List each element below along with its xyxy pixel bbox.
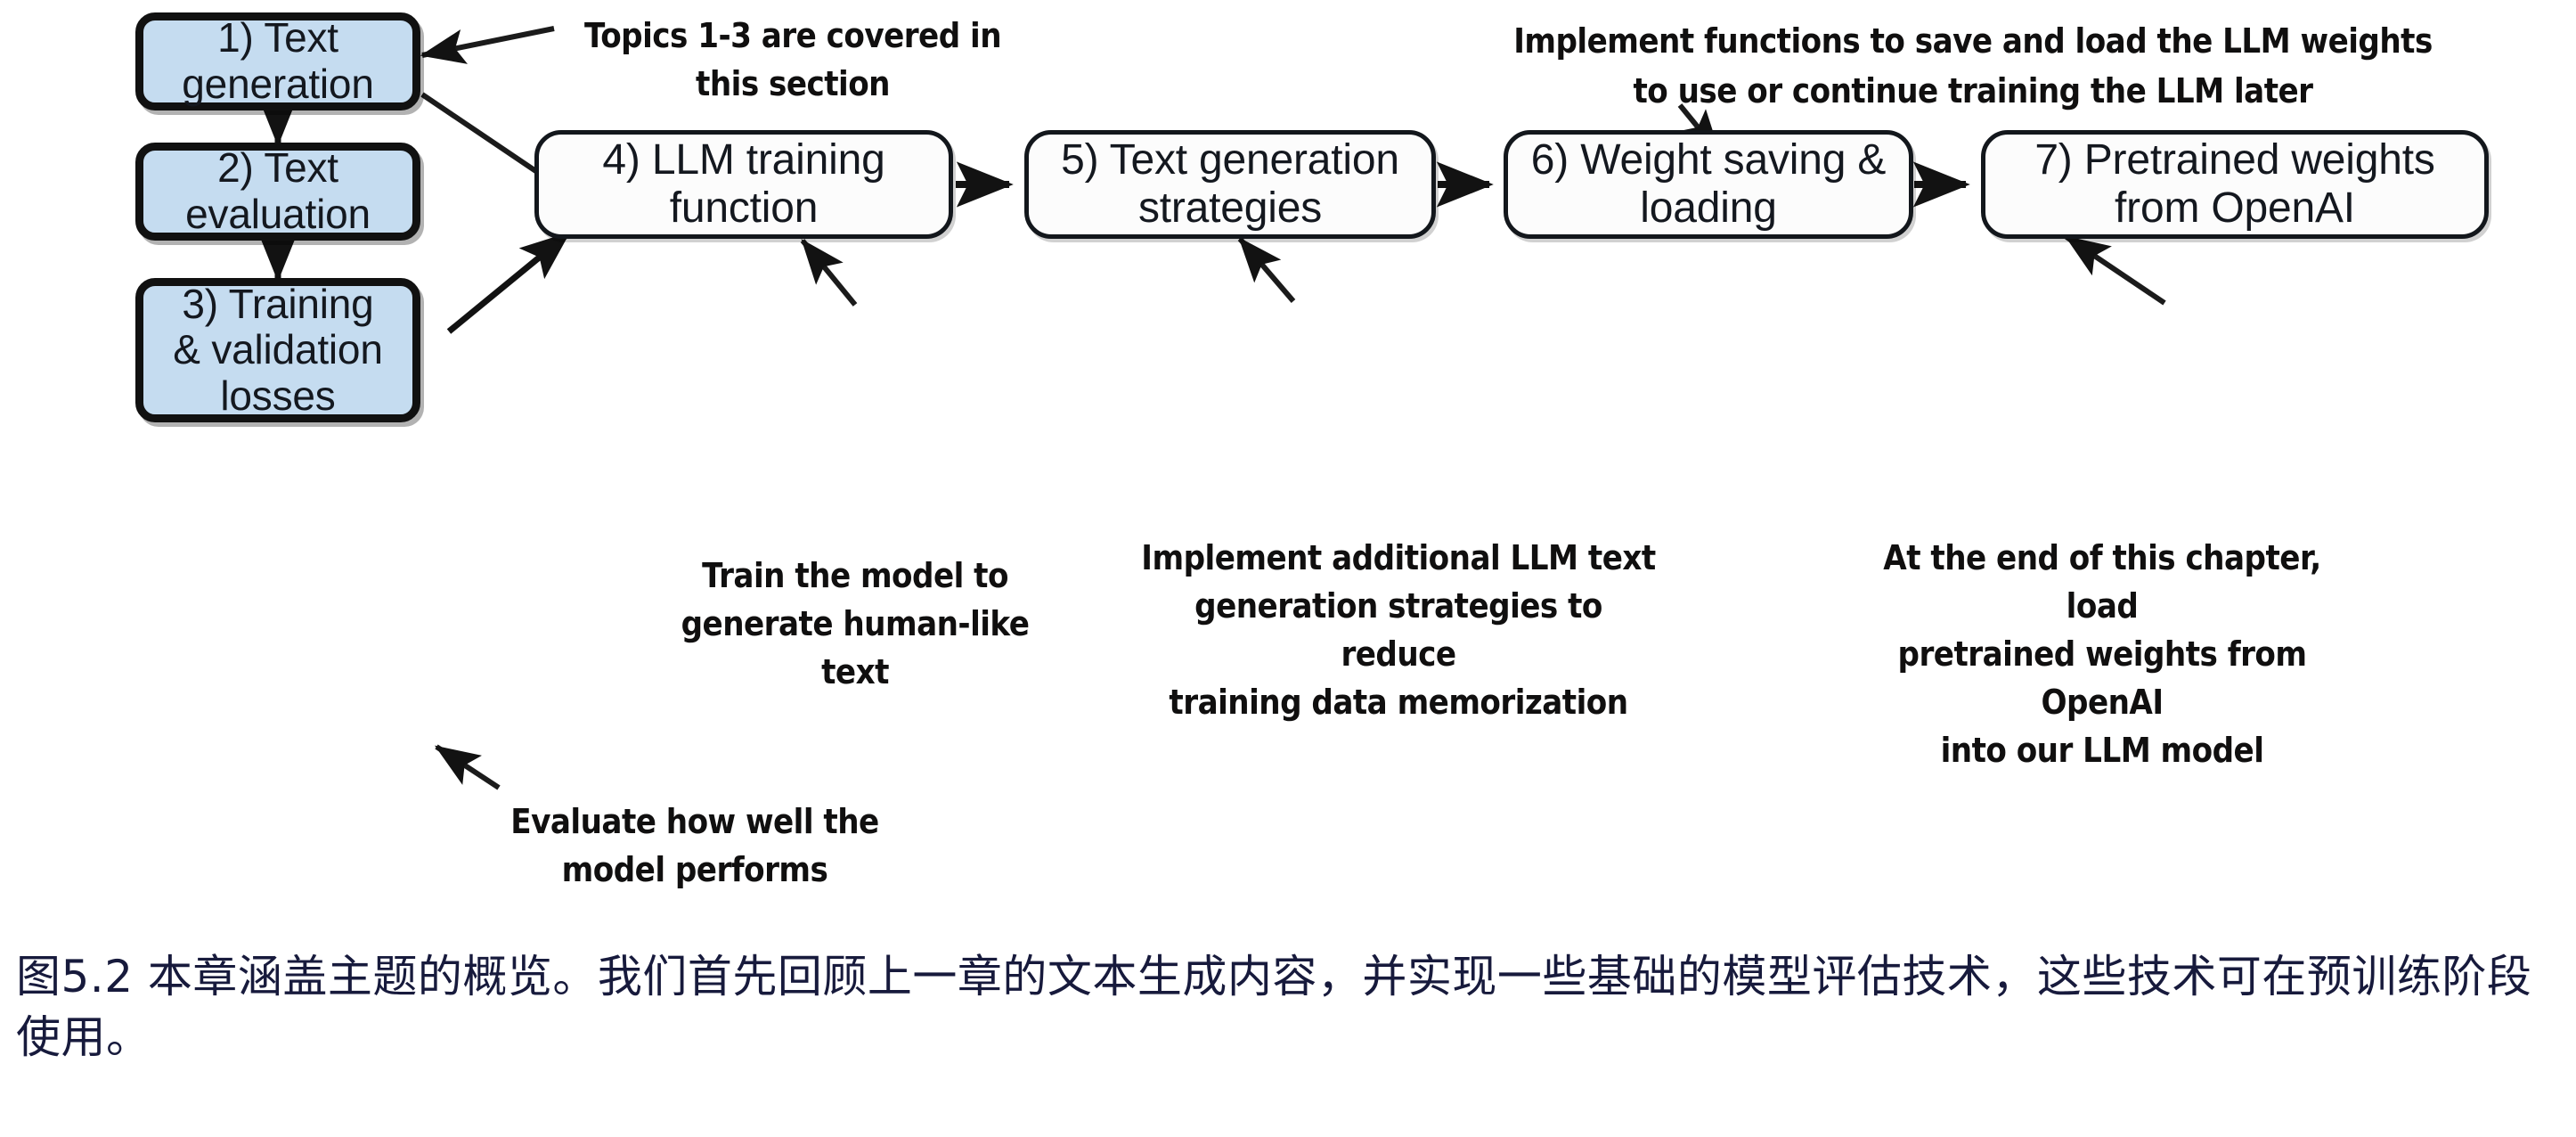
node-text-generation-strategies-label: 5) Text generation strategies: [1061, 136, 1399, 233]
annotation-save-load-weights: Implement functions to save and load the…: [1472, 16, 2474, 116]
callout-arrow-topics-covered: [422, 29, 554, 55]
node-pretrained-weights-openai[interactable]: 7) Pretrained weights from OpenAI: [1981, 130, 2489, 239]
node-training-validation-losses-label: 3) Training & validation losses: [173, 282, 382, 420]
node-text-evaluation[interactable]: 2) Text evaluation: [135, 143, 420, 241]
node-llm-training-function[interactable]: 4) LLM training function: [534, 130, 953, 239]
node-text-generation-strategies[interactable]: 5) Text generation strategies: [1024, 130, 1436, 239]
node-text-generation[interactable]: 1) Text generation: [135, 12, 420, 110]
figure-diagram: 1) Text generation 2) Text evaluation 3)…: [0, 0, 2576, 927]
node-pretrained-weights-openai-label: 7) Pretrained weights from OpenAI: [2034, 136, 2434, 233]
node-training-validation-losses[interactable]: 3) Training & validation losses: [135, 278, 420, 422]
node-text-evaluation-label: 2) Text evaluation: [185, 145, 371, 237]
callout-arrow-train-model: [803, 241, 855, 305]
figure-caption: 图5.2 本章涵盖主题的概览。我们首先回顾上一章的文本生成内容，并实现一些基础的…: [16, 946, 2564, 1067]
callout-arrow-load-pretrained: [2067, 237, 2164, 303]
arrow-box3-to-box4: [449, 234, 567, 331]
annotation-load-pretrained: At the end of this chapter, load pretrai…: [1846, 535, 2359, 775]
annotation-topics-covered: Topics 1-3 are covered in this section: [576, 12, 1009, 109]
callout-arrow-reduce-memorization: [1240, 239, 1293, 301]
annotation-evaluate-model: Evaluate how well the model performs: [494, 798, 895, 895]
node-weight-saving-loading[interactable]: 6) Weight saving & loading: [1504, 130, 1913, 239]
node-llm-training-function-label: 4) LLM training function: [602, 136, 884, 233]
node-text-generation-label: 1) Text generation: [182, 15, 373, 107]
node-weight-saving-loading-label: 6) Weight saving & loading: [1531, 136, 1886, 233]
annotation-reduce-memorization: Implement additional LLM text generation…: [1134, 535, 1663, 727]
annotation-train-model: Train the model to generate human-like t…: [647, 552, 1064, 697]
callout-arrow-evaluate-model: [436, 747, 499, 788]
